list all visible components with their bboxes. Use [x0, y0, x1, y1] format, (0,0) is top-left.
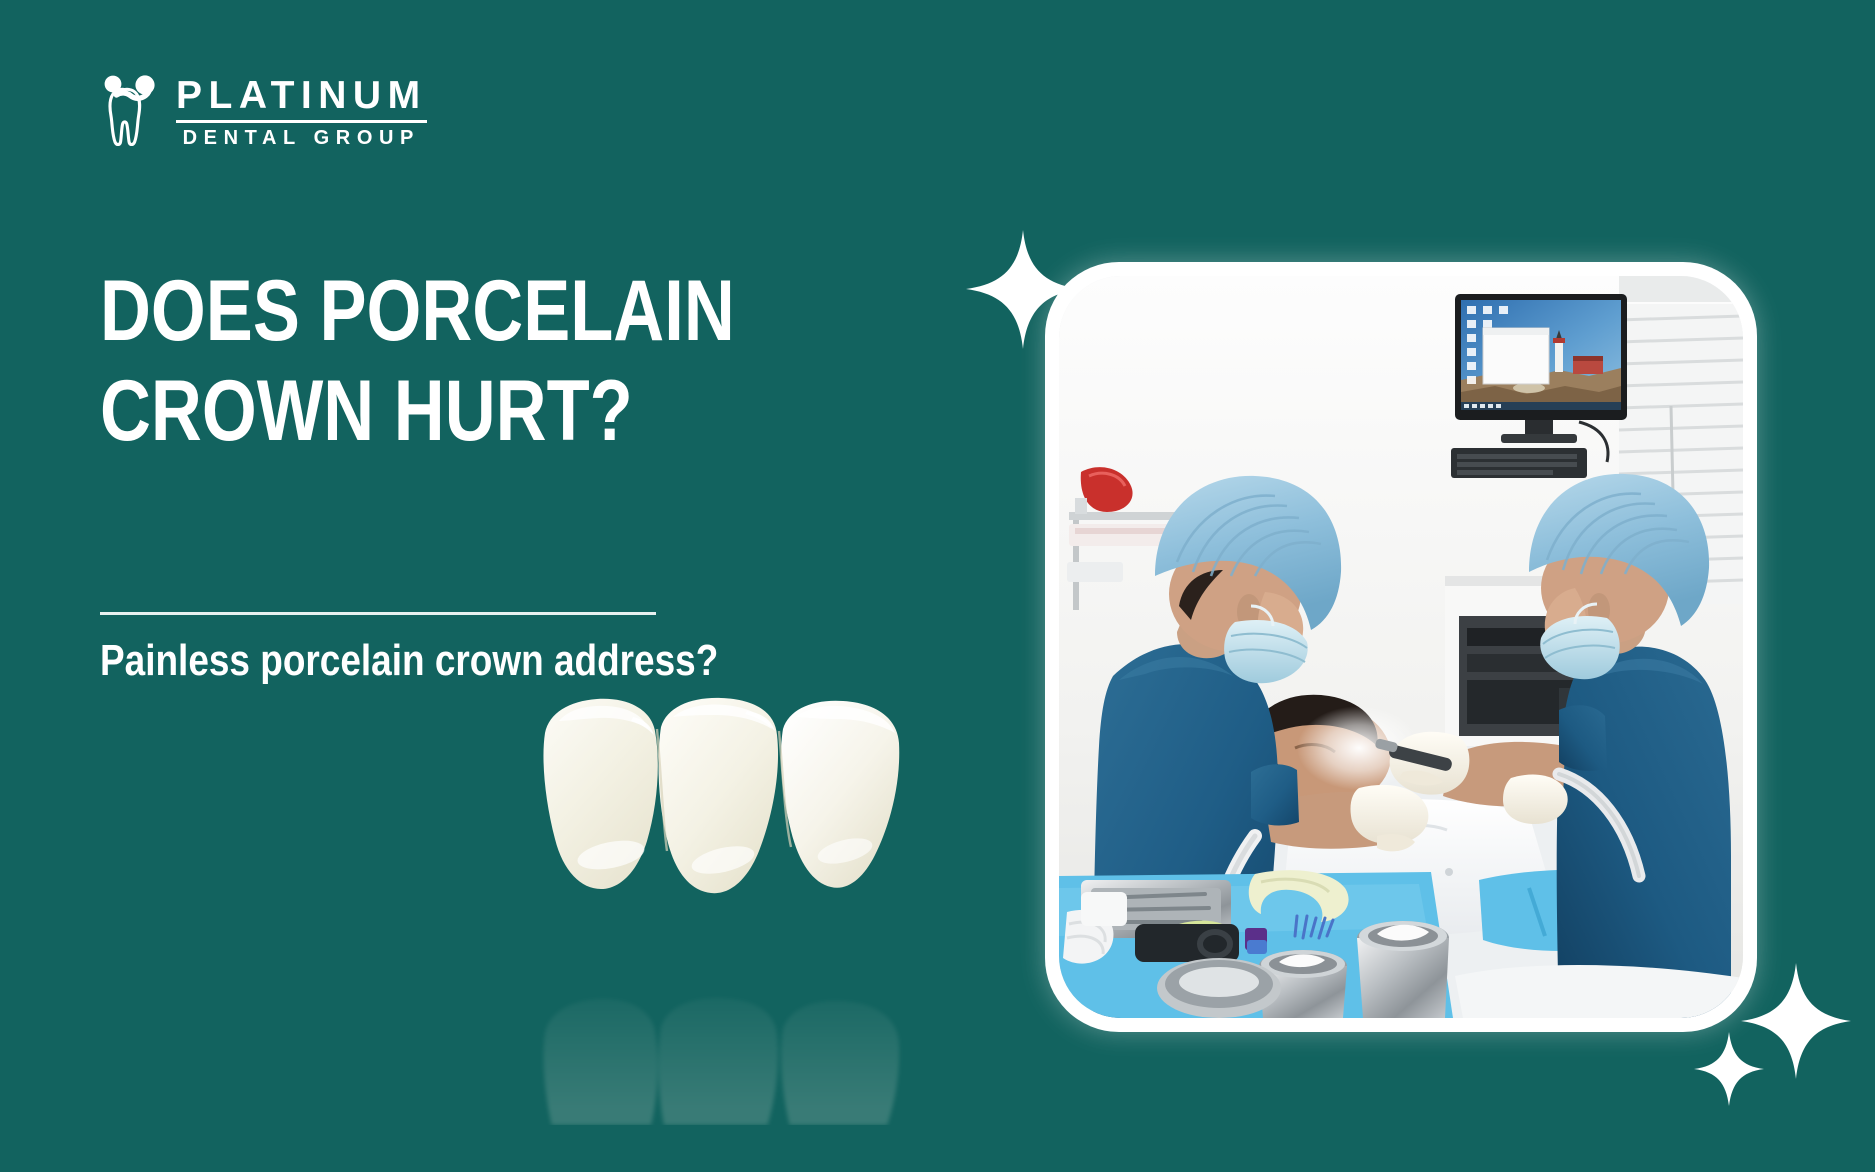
logo-divider	[176, 120, 427, 123]
porcelain-crowns-reflection	[515, 955, 915, 1125]
headline-line-2: CROWN HURT?	[100, 362, 723, 462]
tooth-with-two-figures-icon	[100, 74, 162, 146]
banner-root: PLATINUM DENTAL GROUP DOES PORCELAIN CRO…	[0, 0, 1875, 1172]
clinic-photo-frame	[1045, 262, 1757, 1032]
computer-keyboard	[1451, 448, 1587, 478]
stainless-instrument-tray	[1059, 870, 1453, 1018]
headline-line-1: DOES PORCELAIN	[100, 262, 723, 362]
page-title: DOES PORCELAIN CROWN HURT?	[100, 262, 723, 462]
sparkle-icon	[1692, 1030, 1766, 1113]
clinic-photo	[1059, 276, 1743, 1018]
brand-logo[interactable]: PLATINUM DENTAL GROUP	[100, 72, 427, 148]
porcelain-crowns-image	[515, 655, 915, 975]
logo-primary-text: PLATINUM	[176, 76, 427, 115]
title-divider	[100, 612, 656, 615]
logo-secondary-text: DENTAL GROUP	[176, 128, 427, 148]
